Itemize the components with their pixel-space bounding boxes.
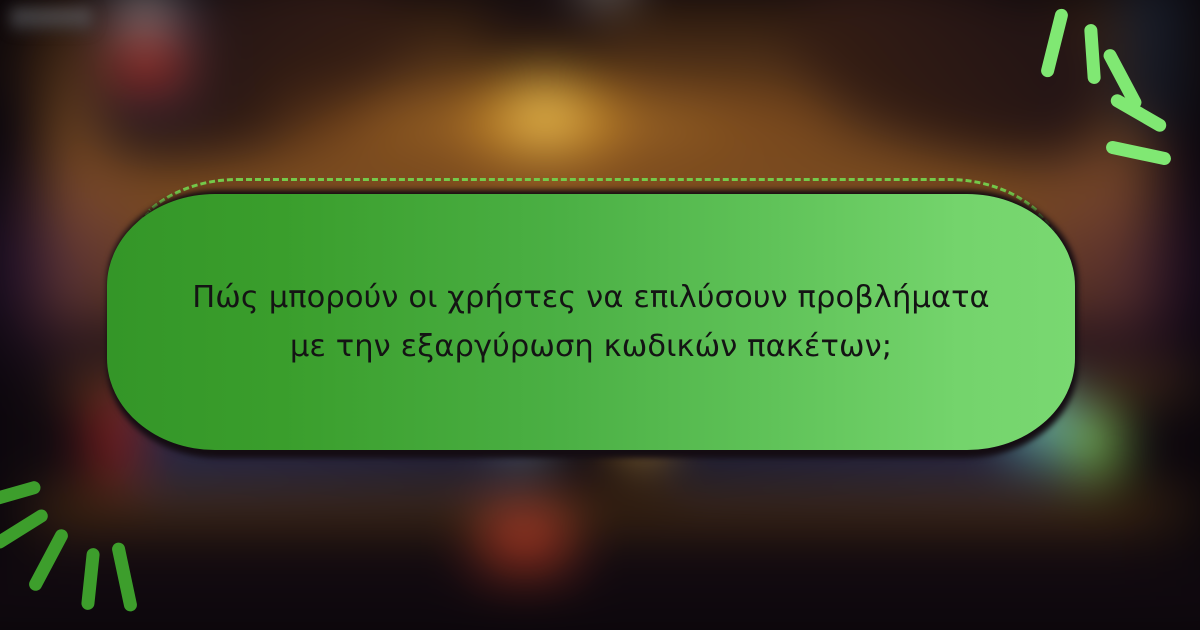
sparkle-ray <box>0 507 50 551</box>
background-left-white-chip <box>128 0 162 36</box>
question-line-2: με την εξαργύρωση κωδικών πακέτων; <box>171 322 1011 371</box>
sparkle-ray <box>1084 24 1101 85</box>
background-bottom-vignette <box>0 580 1200 630</box>
background-left-red-card <box>110 35 184 95</box>
sparkle-ray <box>81 547 100 610</box>
sparkle-ray <box>1105 140 1172 166</box>
callout-body: Πώς μπορούν οι χρήστες να επιλύσουν προβ… <box>107 194 1075 450</box>
question-text: Πώς μπορούν οι χρήστες να επιλύσουν προβ… <box>171 273 1011 371</box>
background-brazier-glow <box>460 50 630 160</box>
sparkle-burst-top-right <box>1020 0 1200 180</box>
sparkle-burst-bottom-left <box>0 450 180 630</box>
screenshot-canvas: Πώς μπορούν οι χρήστες να επιλύσουν προβ… <box>0 0 1200 630</box>
sparkle-ray <box>0 480 42 511</box>
question-line-1: Πώς μπορούν οι χρήστες να επιλύσουν προβ… <box>192 280 990 315</box>
background-amber-card <box>480 505 570 575</box>
sparkle-ray <box>1040 7 1070 78</box>
blurred-ui-chip <box>10 8 92 30</box>
background-board-frame-bottom <box>30 492 1200 532</box>
sparkle-ray <box>111 541 138 612</box>
question-callout: Πώς μπορούν οι χρήστες να επιλύσουν προβ… <box>105 178 1080 450</box>
sparkle-ray <box>27 527 70 593</box>
